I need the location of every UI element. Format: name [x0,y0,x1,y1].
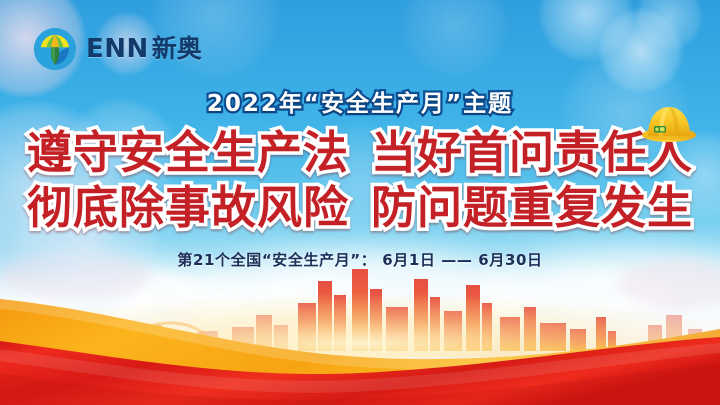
slogan-line-2-right: 防问题重复发生 [371,181,693,234]
slogan-line-1: 遵守安全生产法当好首问责任人 [0,126,720,181]
slogan-line-2: 彻底除事故风险防问题重复发生 [0,181,720,236]
banner-subtitle: 2022年“安全生产月”主题 [0,84,720,118]
enn-logo[interactable]: ENN新奥 [33,27,202,71]
enn-logo-cn: 新奥 [152,34,202,63]
enn-logo-latin: ENN [86,34,149,64]
skyline-and-ribbons [0,245,720,405]
enn-tulip-logo-icon [33,27,77,71]
slogan-line-1-left: 遵守安全生产法 [27,126,349,179]
safety-helmet-icon [641,101,697,147]
enn-logo-text: ENN新奥 [86,36,202,62]
slogan-line-2-left: 彻底除事故风险 [27,181,349,234]
safety-production-month-banner: ENN新奥 2022年“安全生产月”主题 遵守安全生产法当好首问责任人 彻底除事… [0,0,720,405]
slogan-block: 遵守安全生产法当好首问责任人 彻底除事故风险防问题重复发生 [0,126,720,236]
